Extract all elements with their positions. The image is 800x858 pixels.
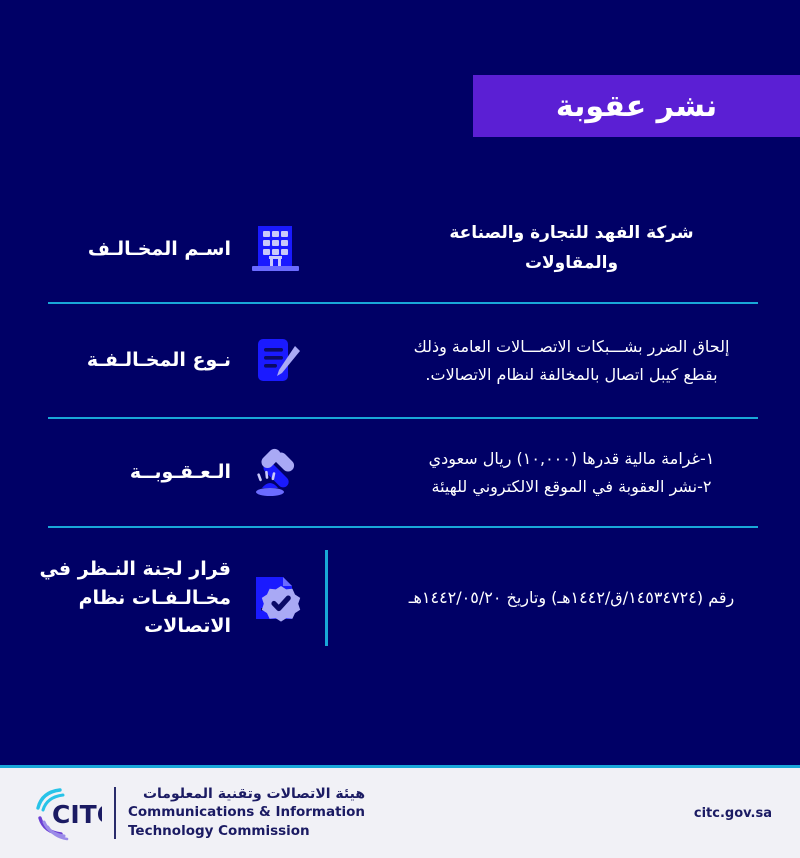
document-pencil-icon: [245, 330, 307, 392]
penalty-publication-poster: نشر عقوبة شركة الفهد للتجارة والصناعة وا…: [0, 0, 800, 858]
table-row-penalty: ١-غرامة مالية قدرها (١٠,٠٠٠) ريال سعودي …: [0, 419, 800, 526]
value-line: والمقاولات: [373, 249, 770, 279]
committee-decision-label: قرار لجنة النـظر في مخـالـفـات نظام الات…: [0, 555, 231, 641]
violation-type-label-cell: نـوع المخـالـفـة: [0, 330, 325, 392]
value-line: بقطع كيبل اتصال بالمخالفة لنظام الاتصالا…: [373, 361, 770, 389]
row-vertical-divider: [325, 550, 328, 646]
footer: CITC هيئة الاتصالات وتقنية المعلومات Com…: [0, 765, 800, 858]
violation-type-value: إلحاق الضرر بشـــبكات الاتصـــالات العام…: [328, 333, 800, 389]
brand-lockup: CITC هيئة الاتصالات وتقنية المعلومات Com…: [30, 784, 365, 842]
building-icon: [245, 218, 307, 280]
website-url[interactable]: citc.gov.sa: [694, 806, 772, 821]
violator-name-label: اسـم المخـالـف: [0, 235, 231, 264]
brand-name-english-line1: Communications & Information: [128, 804, 365, 822]
violation-type-label: نـوع المخـالـفـة: [0, 346, 231, 375]
table-row-violation-type: إلحاق الضرر بشـــبكات الاتصـــالات العام…: [0, 304, 800, 417]
svg-text:CITC: CITC: [52, 800, 102, 829]
table-row-committee-decision: رقم (١٤٥٣٤٧٢٤/ق/١٤٤٢هـ) وتاريخ ١٤٤٢/٠٥/٢…: [0, 528, 800, 668]
header-banner: نشر عقوبة: [473, 75, 800, 137]
value-line: ١-غرامة مالية قدرها (١٠,٠٠٠) ريال سعودي: [373, 445, 770, 473]
value-line: شركة الفهد للتجارة والصناعة: [373, 219, 770, 249]
violator-name-value: شركة الفهد للتجارة والصناعة والمقاولات: [328, 219, 800, 279]
gavel-icon: [245, 442, 307, 504]
violator-name-label-cell: اسـم المخـالـف: [0, 218, 325, 280]
penalty-value: ١-غرامة مالية قدرها (١٠,٠٠٠) ريال سعودي …: [328, 445, 800, 501]
details-table: شركة الفهد للتجارة والصناعة والمقاولات: [0, 196, 800, 716]
penalty-label-cell: الـعـقـوبــة: [0, 442, 325, 504]
brand-name-arabic: هيئة الاتصالات وتقنية المعلومات: [128, 786, 365, 804]
brand-name-english-line2: Technology Commission: [128, 823, 365, 841]
logo-separator: [114, 787, 116, 839]
penalty-label: الـعـقـوبــة: [0, 458, 231, 487]
document-check-badge-icon: [245, 567, 307, 629]
value-line: ٢-نشر العقوبة في الموقع الالكتروني للهيئ…: [373, 473, 770, 501]
committee-decision-value: رقم (١٤٥٣٤٧٢٤/ق/١٤٤٢هـ) وتاريخ ١٤٤٢/٠٥/٢…: [328, 584, 800, 612]
brand-name-block: هيئة الاتصالات وتقنية المعلومات Communic…: [128, 786, 365, 841]
page-title: نشر عقوبة: [556, 89, 717, 124]
value-line: رقم (١٤٥٣٤٧٢٤/ق/١٤٤٢هـ) وتاريخ ١٤٤٢/٠٥/٢…: [373, 584, 770, 612]
citc-logo-icon: CITC: [30, 784, 102, 842]
table-row-violator-name: شركة الفهد للتجارة والصناعة والمقاولات: [0, 196, 800, 302]
value-line: إلحاق الضرر بشـــبكات الاتصـــالات العام…: [373, 333, 770, 361]
committee-decision-label-cell: قرار لجنة النـظر في مخـالـفـات نظام الات…: [0, 555, 325, 641]
